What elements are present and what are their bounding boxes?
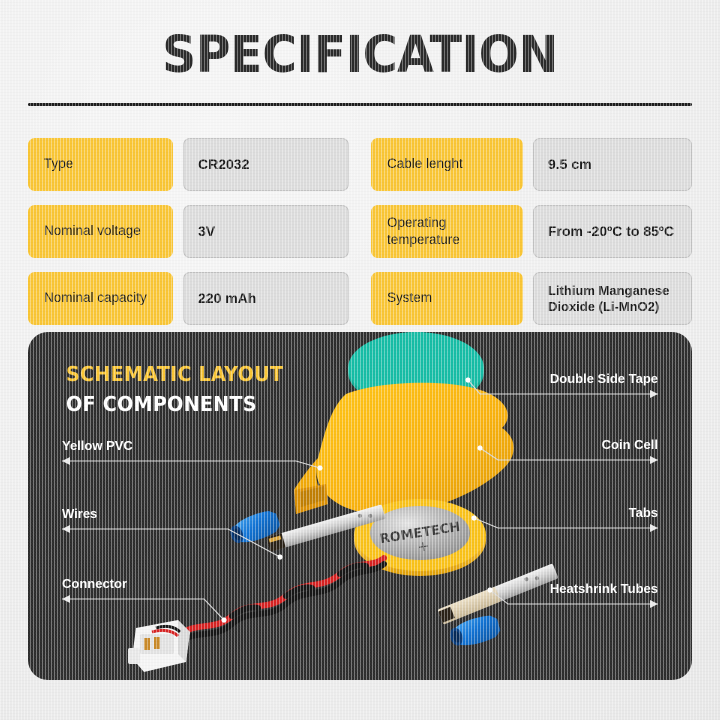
callout-connector: Connector xyxy=(62,576,127,591)
specification-table: Type CR2032 Nominal voltage 3V Nominal c… xyxy=(28,138,692,325)
callout-label: Wires xyxy=(62,506,97,521)
callout-yellow-pvc: Yellow PVC xyxy=(62,438,133,453)
callout-label: Tabs xyxy=(629,505,658,520)
callout-label: Heatshrink Tubes xyxy=(550,581,658,596)
callout-tabs: Tabs xyxy=(629,505,658,520)
callout-double-side-tape: Double Side Tape xyxy=(550,371,658,386)
spec-row: Type CR2032 xyxy=(28,138,349,191)
spec-column-left: Type CR2032 Nominal voltage 3V Nominal c… xyxy=(28,138,349,325)
callout-label: Double Side Tape xyxy=(550,371,658,386)
spec-row: Nominal voltage 3V xyxy=(28,205,349,258)
callout-label: Coin Cell xyxy=(602,437,658,452)
spec-value: 9.5 cm xyxy=(533,138,692,191)
spec-key: Type xyxy=(28,138,173,191)
callout-coin-cell: Coin Cell xyxy=(602,437,658,452)
spec-key: System xyxy=(371,272,523,325)
infographic-page: SPECIFICATION Type CR2032 Nominal voltag… xyxy=(0,0,720,720)
spec-key: Cable lenght xyxy=(371,138,523,191)
spec-row: Cable lenght 9.5 cm xyxy=(371,138,692,191)
spec-key: Operating temperature xyxy=(371,205,523,258)
callout-label: Yellow PVC xyxy=(62,438,133,453)
spec-row: System Lithium Manganese Dioxide (Li-MnO… xyxy=(371,272,692,325)
page-title: SPECIFICATION xyxy=(25,26,695,85)
title-divider xyxy=(28,103,692,106)
callout-heatshrink-tubes: Heatshrink Tubes xyxy=(550,581,658,596)
spec-column-right: Cable lenght 9.5 cm Operating temperatur… xyxy=(371,138,692,325)
spec-value: 3V xyxy=(183,205,349,258)
spec-row: Operating temperature From -20ºC to 85ºC xyxy=(371,205,692,258)
spec-value: CR2032 xyxy=(183,138,349,191)
callout-label: Connector xyxy=(62,576,127,591)
spec-value: Lithium Manganese Dioxide (Li-MnO2) xyxy=(533,272,692,325)
spec-key: Nominal capacity xyxy=(28,272,173,325)
callout-wires: Wires xyxy=(62,506,97,521)
spec-value: 220 mAh xyxy=(183,272,349,325)
schematic-panel: SCHEMATIC LAYOUT OF COMPONENTS xyxy=(28,332,692,680)
spec-row: Nominal capacity 220 mAh xyxy=(28,272,349,325)
spec-value: From -20ºC to 85ºC xyxy=(533,205,692,258)
spec-key: Nominal voltage xyxy=(28,205,173,258)
